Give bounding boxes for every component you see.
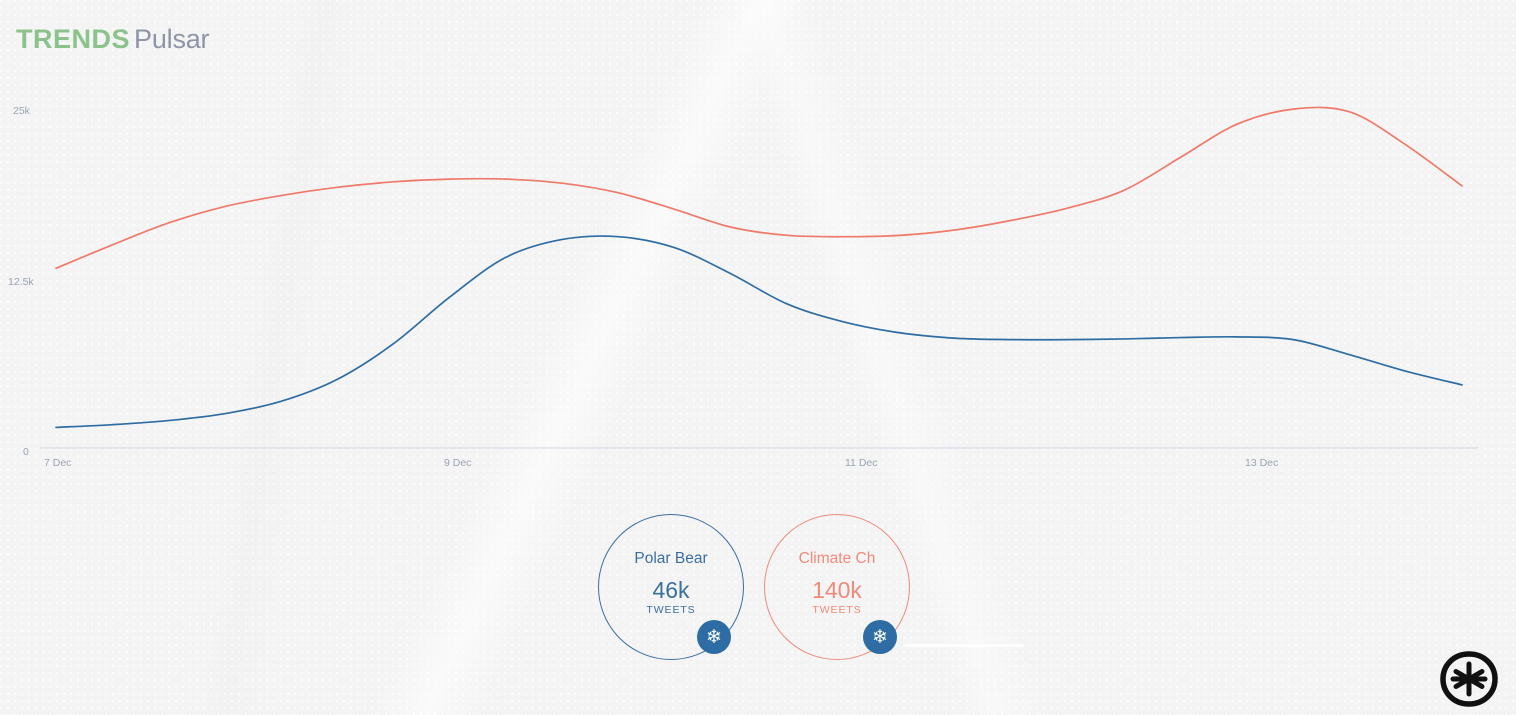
x-axis-tick-11-dec: 11 Dec (845, 458, 878, 469)
y-axis-tick-25k: 25k (13, 106, 30, 117)
y-axis-tick-12-5k: 12.5k (8, 277, 34, 288)
trend-bubble-climate-ch[interactable]: Climate Ch 140k TWEETS ❄ (764, 514, 910, 660)
snowflake-icon: ❄ (697, 620, 731, 654)
bubble-unit: TWEETS (599, 605, 743, 616)
bubble-title: Climate Ch (765, 551, 909, 567)
bubble-value: 140k (765, 579, 909, 602)
logo-trends-text: TRENDS (16, 24, 130, 54)
bubble-unit: TWEETS (765, 605, 909, 616)
series-line-polar-bear (56, 236, 1462, 427)
trend-chart: 25k 12.5k 0 7 Dec 9 Dec 11 Dec 13 Dec (0, 86, 1516, 466)
x-axis-tick-9-dec: 9 Dec (444, 458, 471, 469)
render-streak-artifact (905, 644, 1023, 647)
bubble-value: 46k (599, 579, 743, 602)
series-line-climate-ch (56, 107, 1462, 268)
asterisk-circle-icon (1438, 651, 1500, 707)
y-axis-tick-0: 0 (23, 447, 29, 458)
chart-canvas (0, 86, 1516, 466)
app-logo: TRENDSPulsar (16, 26, 209, 53)
trend-bubble-polar-bear[interactable]: Polar Bear 46k TWEETS ❄ (598, 514, 744, 660)
x-axis-tick-13-dec: 13 Dec (1245, 458, 1278, 469)
trend-bubbles: Polar Bear 46k TWEETS ❄ Climate Ch 140k … (598, 514, 918, 668)
snowflake-icon: ❄ (863, 620, 897, 654)
x-axis-tick-7-dec: 7 Dec (44, 458, 71, 469)
logo-pulsar-text: Pulsar (134, 24, 209, 54)
bubble-title: Polar Bear (599, 551, 743, 567)
